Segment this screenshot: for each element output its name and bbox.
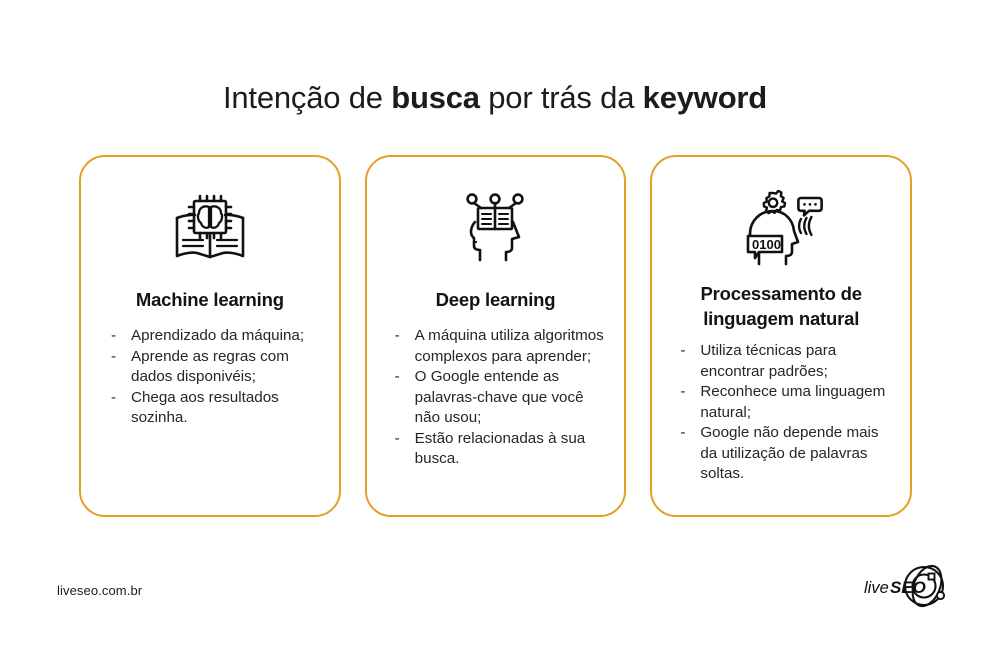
page-title-bold2: keyword (643, 80, 767, 115)
logo-text-bold: SEO (890, 578, 926, 597)
bullet-marker: - (680, 423, 685, 444)
liveseo-logo[interactable]: live SEO (862, 562, 962, 610)
page-title-part1: Intenção de (223, 80, 391, 115)
list-item-text: Reconhece uma linguagem natural; (700, 383, 885, 421)
list-item-text: Estão relacionadas à sua busca. (415, 430, 586, 468)
list-item: -Aprende as regras com dados disponivéis… (109, 347, 323, 388)
bullet-marker: - (680, 382, 685, 403)
bullet-marker: - (395, 367, 400, 388)
bullet-marker: - (111, 347, 116, 368)
list-item-text: Aprendizado da máquina; (131, 327, 304, 344)
list-item-text: O Google entende as palavras-chave que v… (415, 368, 584, 426)
list-item: -Reconhece uma linguagem natural; (678, 382, 892, 423)
list-item-text: Chega aos resultados sozinha. (131, 389, 279, 427)
list-item: -Chega aos resultados sozinha. (109, 388, 323, 429)
list-item-text: Aprende as regras com dados disponivéis; (131, 348, 289, 386)
card-bullet-list: -A máquina utiliza algoritmos complexos … (375, 326, 617, 470)
list-item-text: Google não depende mais da utilização de… (700, 424, 878, 482)
bullet-marker: - (395, 429, 400, 450)
card-row: Machine learning -Aprendizado da máquina… (79, 155, 912, 517)
head-gear-binary-speech-icon: 0100 (739, 183, 823, 275)
book-cpu-brain-icon (171, 183, 249, 275)
list-item-text: Utiliza técnicas para encontrar padrões; (700, 342, 836, 380)
footer-website-url[interactable]: liveseo.com.br (57, 582, 142, 599)
binary-label: 0100 (752, 237, 781, 252)
card-bullet-list: -Aprendizado da máquina; -Aprende as reg… (89, 326, 331, 429)
card-heading: Processamento de linguagem natural (701, 281, 862, 331)
card-machine-learning[interactable]: Machine learning -Aprendizado da máquina… (79, 155, 341, 517)
list-item: -Google não depende mais da utilização d… (678, 423, 892, 485)
bullet-marker: - (395, 326, 400, 347)
card-heading: Deep learning (436, 287, 556, 312)
list-item: -O Google entende as palavras-chave que … (393, 367, 609, 429)
bullet-marker: - (111, 326, 116, 347)
logo-text-light: live (864, 579, 889, 597)
slide-canvas: Intenção de busca por trás da keyword (0, 0, 990, 660)
card-heading: Machine learning (136, 287, 284, 312)
list-item: -A máquina utiliza algoritmos complexos … (393, 326, 609, 367)
list-item: -Estão relacionadas à sua busca. (393, 429, 609, 470)
list-item: -Utiliza técnicas para encontrar padrões… (678, 341, 892, 382)
bullet-marker: - (111, 388, 116, 409)
list-item: -Aprendizado da máquina; (109, 326, 323, 347)
list-item-text: A máquina utiliza algoritmos complexos p… (415, 327, 604, 365)
card-nlp[interactable]: 0100 Processamento d (650, 155, 912, 517)
bullet-marker: - (680, 341, 685, 362)
page-title-part2: por trás da (480, 80, 643, 115)
page-title: Intenção de busca por trás da keyword (0, 78, 990, 118)
card-bullet-list: -Utiliza técnicas para encontrar padrões… (660, 341, 902, 485)
page-title-bold1: busca (391, 80, 480, 115)
card-deep-learning[interactable]: Deep learning -A máquina utiliza algorit… (365, 155, 627, 517)
head-book-neural-nodes-icon (457, 183, 535, 275)
